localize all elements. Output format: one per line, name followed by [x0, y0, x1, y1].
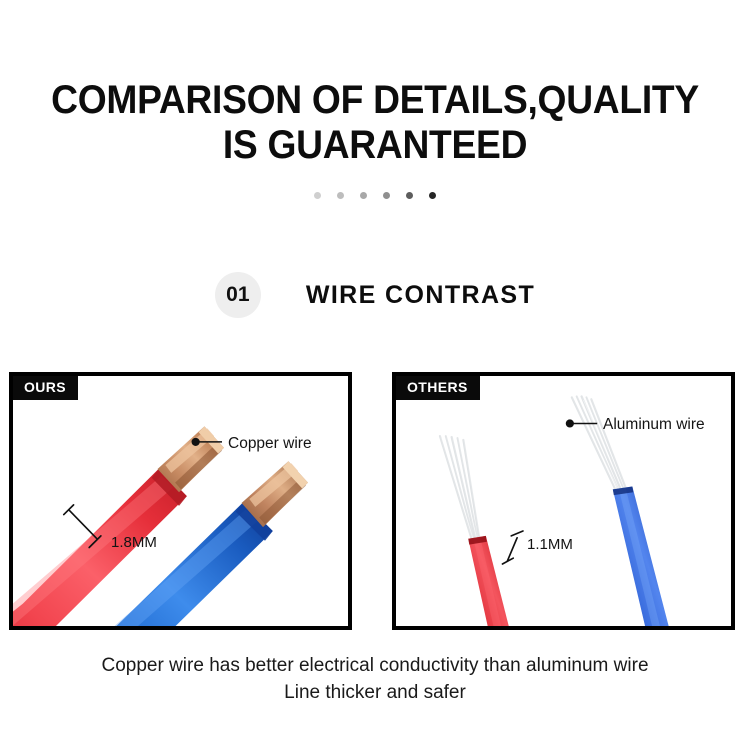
panel-tag-others: OTHERS — [395, 375, 480, 400]
ours-wire-illustration — [13, 376, 348, 626]
others-wire-photo: Aluminum wire 1.1MM — [396, 376, 731, 626]
aluminum-wire-callout-label: Aluminum wire — [603, 416, 705, 434]
section-heading: 01 WIRE CONTRAST — [0, 272, 750, 318]
others-wire-illustration — [396, 376, 731, 626]
page-title: COMPARISON OF DETAILS,QUALITY IS GUARANT… — [26, 78, 724, 168]
others-dimension-label: 1.1MM — [527, 536, 573, 553]
section-title: WIRE CONTRAST — [306, 281, 535, 310]
ours-wire-photo: Copper wire 1.8MM — [13, 376, 348, 626]
ours-dimension-bracket — [64, 505, 101, 548]
header-block: COMPARISON OF DETAILS,QUALITY IS GUARANT… — [0, 78, 750, 168]
decorative-dot-row — [0, 192, 750, 199]
dot-6-icon — [429, 192, 436, 199]
dot-4-icon — [383, 192, 390, 199]
comparison-panel-others: Aluminum wire 1.1MM OTHERS — [392, 372, 735, 630]
ours-dimension-label: 1.8MM — [111, 534, 157, 551]
others-dimension-bracket — [502, 531, 523, 564]
section-number-badge: 01 — [215, 272, 261, 318]
copper-wire-callout-label: Copper wire — [228, 435, 312, 453]
panel-tag-ours: OURS — [12, 375, 78, 400]
red-aluminum-wire-group — [440, 436, 519, 626]
dot-3-icon — [360, 192, 367, 199]
dot-2-icon — [337, 192, 344, 199]
dot-5-icon — [406, 192, 413, 199]
comparison-panel-ours: Copper wire 1.8MM OURS — [9, 372, 352, 630]
comparison-caption: Copper wire has better electrical conduc… — [0, 652, 750, 706]
dot-1-icon — [314, 192, 321, 199]
